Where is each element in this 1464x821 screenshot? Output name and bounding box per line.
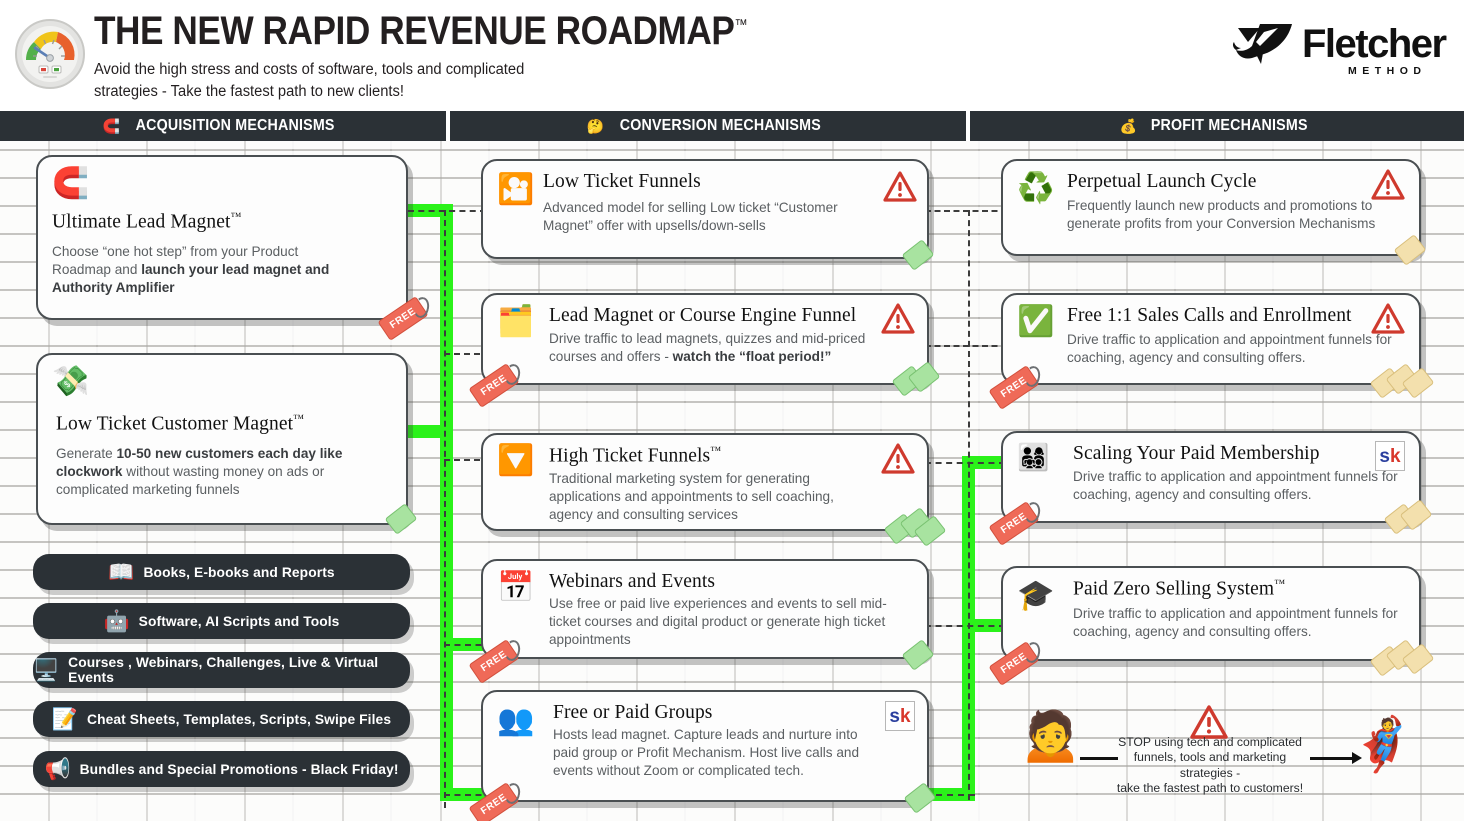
money-with-wings-magnet-icon: 💸 [52,367,89,397]
footer-callout-line-2: funnels, tools and marketing strategies … [1110,750,1310,781]
card-title-tm: ™ [710,445,721,457]
card-lead-magnet-course-engine-funnel[interactable]: 🗂️ Lead Magnet or Course Engine Funnel D… [481,293,929,385]
card-body-perpetual-launch-cycle: Frequently launch new products and promo… [1067,197,1397,233]
card-perpetual-launch-cycle[interactable]: ♻️ Perpetual Launch Cycle Frequently lau… [1001,159,1421,256]
green-connector-a-trunk [440,204,453,801]
person-frustrated-icon: 🙍 [1018,709,1083,761]
card-body-paid-zero-selling-system: Drive traffic to application and appoint… [1073,605,1421,641]
list-item-label: Software, AI Scripts and Tools [139,614,340,629]
card-scaling-paid-membership[interactable]: 👨‍👩‍👧‍👦 Scaling Your Paid Membership Dri… [1001,431,1421,523]
list-item-software-ai-scripts[interactable]: 🤖 Software, AI Scripts and Tools [33,603,410,639]
people-chat-icon: 👥 [497,706,534,736]
card-title-high-ticket-funnels: High Ticket Funnels™ [549,445,913,468]
card-body-free-sales-calls-enrollment: Drive traffic to application and appoint… [1067,331,1417,367]
card-title-text: Ultimate Lead Magnet [52,212,231,233]
brand-name: Fletcher [1302,22,1446,67]
price-tag-money [903,641,939,671]
card-low-ticket-funnels[interactable]: 🎦 Low Ticket Funnels Advanced model for … [481,159,929,259]
page-subtitle-line-1: Avoid the high stress and costs of softw… [94,59,1101,81]
column-header-profit: 💰 PROFIT MECHANISMS [970,111,1464,141]
card-title-text: Perpetual Launch Cycle [1067,171,1257,192]
card-body-high-ticket-funnels: Traditional marketing system for generat… [549,470,879,524]
footer-callout-line-3: take the fastest path to customers! [1110,781,1310,796]
list-item-bundles-promotions[interactable]: 📢 Bundles and Special Promotions - Black… [33,751,410,787]
footer-callout-line-1: STOP using tech and complicated [1110,735,1310,750]
warning-triangle-icon [1371,303,1405,334]
card-title-free-sales-calls-enrollment: Free 1:1 Sales Calls and Enrollment [1067,305,1405,327]
dashed-link-to-scaling-membership [925,462,1005,464]
skool-badge-k: k [900,707,911,726]
card-title-text: Low Ticket Funnels [543,171,701,192]
open-book-icon: 📖 [108,562,134,583]
dashed-link-to-perpetual-launch [925,210,1007,212]
magnet-icon: 🧲 [52,169,89,199]
calendar-confirm-icon: ✅ [1017,307,1054,337]
price-tag-money [386,505,422,535]
price-tag-free: FREE [471,374,517,397]
card-body-lead-magnet-course-engine-funnel: Drive traffic to lead magnets, quizzes a… [549,330,894,366]
warning-triangle-icon [883,171,917,202]
card-paid-zero-selling-system[interactable]: 🎓 Paid Zero Selling System™ Drive traffi… [1001,566,1421,661]
card-low-ticket-customer-magnet[interactable]: 💸 Low Ticket Customer Magnet™ Generate 1… [36,353,408,525]
card-title-lead-magnet-course-engine-funnel: Lead Magnet or Course Engine Funnel [549,305,913,327]
dashed-link-profit-trunk [968,210,970,800]
page-subtitle: Avoid the high stress and costs of softw… [94,59,1101,104]
card-body-free-or-paid-groups: Hosts lead magnet. Capture leads and nur… [553,726,883,780]
recycle-launch-icon: ♻️ [1017,174,1054,204]
card-title-text: Webinars and Events [549,571,715,592]
card-title-paid-zero-selling-system: Paid Zero Selling System™ [1073,578,1405,601]
skool-badge-icon: sk [1375,441,1405,471]
column-header-acquisition: 🧲 ACQUISITION MECHANISMS [0,111,446,141]
card-body-ultimate-lead-magnet: Choose “one hot step” from your Product … [52,243,352,297]
magnet-icon: 🧲 [103,119,120,133]
skool-badge-s: s [1379,447,1390,466]
eagle-logo-icon [1230,20,1298,72]
superhero-storm-icon: 🦸 [1350,719,1415,771]
roadmap-canvas: 🧲 Ultimate Lead Magnet™ Choose “one hot … [0,141,1464,821]
card-high-ticket-funnels[interactable]: 🔽 High Ticket Funnels™ Traditional marke… [481,433,929,531]
column-header-conversion-label: CONVERSION MECHANISMS [620,117,821,135]
card-title-free-or-paid-groups: Free or Paid Groups [553,702,913,724]
column-header-profit-label: PROFIT MECHANISMS [1151,117,1308,135]
card-body-low-ticket-customer-magnet: Generate 10-50 new customers each day li… [56,445,356,499]
dashed-link-to-sales-calls [925,345,1007,347]
web-form-icon: 🗂️ [497,307,534,337]
card-title-tm: ™ [293,413,304,425]
warning-triangle-icon [1371,169,1405,200]
card-title-text: Scaling Your Paid Membership [1073,443,1320,464]
memo-icon: 📝 [52,709,78,730]
page-title: THE NEW RAPID REVENUE ROADMAP™ [94,10,1027,52]
column-header-acquisition-label: ACQUISITION MECHANISMS [136,117,335,135]
price-tag-free: FREE [380,307,426,330]
card-title-webinars-and-events: Webinars and Events [549,571,913,593]
dashed-link-acquisition-trunk [444,210,446,808]
card-title-text: Free 1:1 Sales Calls and Enrollment [1067,305,1352,326]
list-item-cheat-sheets-templates[interactable]: 📝 Cheat Sheets, Templates, Scripts, Swip… [33,701,410,737]
page-title-text: THE NEW RAPID REVENUE ROADMAP [94,9,734,53]
card-free-sales-calls-enrollment[interactable]: ✅ Free 1:1 Sales Calls and Enrollment Dr… [1001,293,1421,385]
robot-icon: 🤖 [104,611,130,632]
group-of-people-icon: 👨‍👩‍👧‍👦 [1017,444,1049,470]
warning-triangle-icon [881,443,915,474]
card-title-low-ticket-funnels: Low Ticket Funnels [543,171,913,193]
card-title-scaling-paid-membership: Scaling Your Paid Membership [1073,443,1405,465]
footer-callout-text: STOP using tech and complicated funnels,… [1110,735,1310,796]
warning-triangle-icon [1190,705,1228,739]
arrow-line-right [1310,757,1352,760]
card-body-low-ticket-funnels: Advanced model for selling Low ticket “C… [543,199,863,235]
price-tag-money [895,365,943,397]
price-tag-gold [1395,236,1429,266]
card-body-scaling-paid-membership: Drive traffic to application and appoint… [1073,468,1421,504]
warning-triangle-icon [881,303,915,334]
card-body-webinars-and-events: Use free or paid live experiences and ev… [549,595,889,649]
card-title-perpetual-launch-cycle: Perpetual Launch Cycle [1067,171,1405,193]
graduate-gear-head-icon: 🎓 [1017,581,1054,611]
loudspeaker-icon: 📢 [44,759,70,780]
list-item-label: Bundles and Special Promotions - Black F… [80,762,399,777]
card-ultimate-lead-magnet[interactable]: 🧲 Ultimate Lead Magnet™ Choose “one hot … [36,155,408,320]
card-title-text: High Ticket Funnels [549,446,710,467]
card-free-or-paid-groups[interactable]: 👥 Free or Paid Groups Hosts lead magnet.… [481,690,929,802]
price-tag-gold [1387,503,1435,535]
desktop-computer-icon: 🖥️ [33,660,59,681]
card-title-tm: ™ [1274,578,1285,590]
funnel-with-dollar-icon: 🔽 [497,446,534,476]
card-webinars-and-events[interactable]: 📅 Webinars and Events Use free or paid l… [481,559,929,659]
price-tag-money [903,241,939,271]
video-cards-icon: 🎦 [497,175,534,205]
page-header: THE NEW RAPID REVENUE ROADMAP™ Avoid the… [0,0,1464,111]
price-tag-free: FREE [991,376,1037,399]
column-header-bar: 🧲 ACQUISITION MECHANISMS 🤔 CONVERSION ME… [0,111,1464,141]
calendar-check-icon: 📅 [497,573,534,603]
skool-badge-k: k [1390,447,1401,466]
price-tag-gold [1373,641,1435,675]
price-tag-free: FREE [991,512,1037,535]
card-title-text: Low Ticket Customer Magnet [56,414,293,435]
money-bag-icon: 💰 [1120,119,1137,133]
price-tag-money [887,505,949,547]
price-tag-free: FREE [991,652,1037,675]
skool-badge-icon: sk [885,701,915,731]
card-title-text: Paid Zero Selling System [1073,579,1274,600]
list-item-books-ebooks-reports[interactable]: 📖 Books, E-books and Reports [33,554,410,590]
card-title-low-ticket-customer-magnet: Low Ticket Customer Magnet™ [56,413,392,436]
title-block: THE NEW RAPID REVENUE ROADMAP™ Avoid the… [94,10,1154,104]
brand-logo: Fletcher METHOD [1230,20,1440,82]
brand-tagline: METHOD [1348,65,1427,77]
column-header-conversion: 🤔 CONVERSION MECHANISMS [450,111,966,141]
thinking-face-icon: 🤔 [586,119,603,133]
card-title-text: Free or Paid Groups [553,702,713,723]
card-title-tm: ™ [231,211,242,223]
price-tag-money [905,784,941,814]
page-subtitle-line-2: strategies - Take the fastest path to ne… [94,81,1101,103]
list-item-label: Courses , Webinars, Challenges, Live & V… [68,655,410,685]
roadmap-page: THE NEW RAPID REVENUE ROADMAP™ Avoid the… [0,0,1464,821]
dashed-link-to-paid-zero [925,625,1005,627]
speedometer-gauge-icon [14,18,86,90]
page-title-tm: ™ [734,17,747,34]
card-title-ultimate-lead-magnet: Ultimate Lead Magnet™ [52,211,392,234]
list-item-courses-webinars-challenges[interactable]: 🖥️ Courses , Webinars, Challenges, Live … [33,652,410,688]
card-title-text: Lead Magnet or Course Engine Funnel [549,305,856,326]
skool-badge-s: s [889,707,900,726]
list-item-label: Cheat Sheets, Templates, Scripts, Swipe … [87,712,391,727]
price-tag-free: FREE [471,650,517,673]
dashed-link-lead-magnet-to-low-ticket [408,210,486,212]
price-tag-gold [1373,365,1435,399]
green-connector-a2 [408,425,453,438]
price-tag-free: FREE [471,793,517,816]
list-item-label: Books, E-books and Reports [143,565,334,580]
